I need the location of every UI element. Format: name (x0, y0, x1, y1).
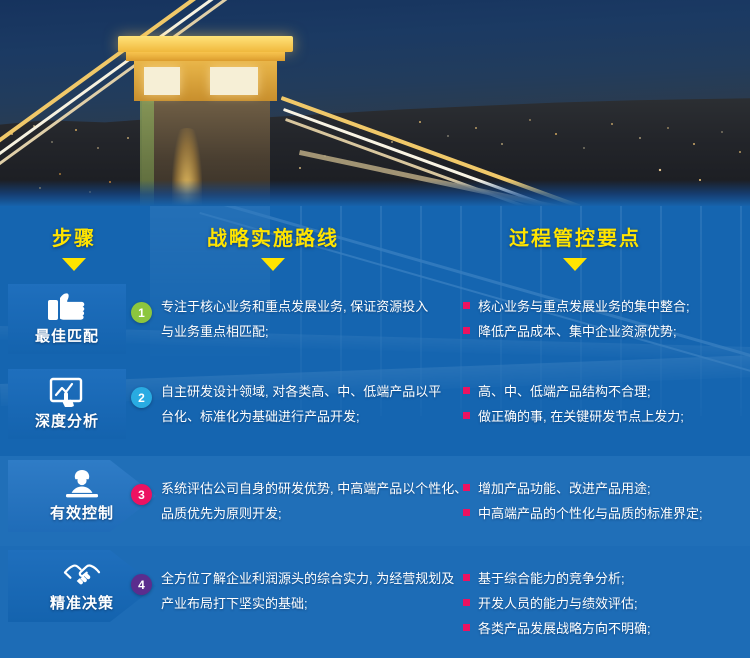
middle-line: 产业布局打下坚实的基础; (161, 591, 461, 616)
bullet-label: 增加产品功能、改进产品用途; (478, 476, 651, 501)
square-bullet-icon (463, 302, 470, 309)
step-2-right-points: 高、中、低端产品结构不合理; 做正确的事, 在关键研发节点上发力; (463, 379, 750, 429)
bullet-label: 各类产品发展战略方向不明确; (478, 616, 651, 641)
middle-line: 专注于核心业务和重点发展业务, 保证资源投入 (161, 294, 446, 319)
step-tile-2[interactable]: 深度分析 (8, 369, 126, 439)
step-3-middle-text: 系统评估公司自身的研发优势, 中高端产品以个性化、 品质优先为原则开发; (161, 476, 461, 526)
step-4-right-points: 基于综合能力的竞争分析; 开发人员的能力与绩效评估; 各类产品发展战略方向不明确… (463, 566, 750, 641)
step-badge-2: 2 (131, 387, 152, 408)
square-bullet-icon (463, 599, 470, 606)
triangle-down-icon (261, 258, 285, 271)
header-strategy-route: 战略实施路线 (148, 222, 398, 271)
bullet-item: 增加产品功能、改进产品用途; (463, 476, 750, 501)
triangle-down-icon (62, 258, 86, 271)
column-headers: 步骤 战略实施路线 过程管控要点 (0, 206, 750, 278)
infographic-page: 步骤 战略实施路线 过程管控要点 最佳匹配 1 专注于核心业务和重点发展业务 (0, 0, 750, 658)
tower-cornice-lower (126, 52, 285, 61)
middle-line: 自主研发设计领域, 对各类高、中、低端产品以平 (161, 379, 446, 404)
step-1-right-points: 核心业务与重点发展业务的集中整合; 降低产品成本、集中企业资源优势; (463, 294, 750, 344)
square-bullet-icon (463, 624, 470, 631)
bullet-label: 中高端产品的个性化与品质的标准界定; (478, 501, 703, 526)
square-bullet-icon (463, 387, 470, 394)
bullet-label: 开发人员的能力与绩效评估; (478, 591, 638, 616)
chart-screen-touch-icon (47, 377, 87, 407)
step-3-right-points: 增加产品功能、改进产品用途; 中高端产品的个性化与品质的标准界定; (463, 476, 750, 526)
row-deep-analysis: 深度分析 2 自主研发设计领域, 对各类高、中、低端产品以平 台化、标准化为基础… (0, 363, 750, 448)
square-bullet-icon (463, 412, 470, 419)
step-tile-1-label: 最佳匹配 (35, 325, 99, 346)
hero-photo-bridge-night (0, 0, 750, 206)
header-process-control-label: 过程管控要点 (440, 222, 710, 251)
middle-line: 台化、标准化为基础进行产品开发; (161, 404, 446, 429)
bullet-label: 高、中、低端产品结构不合理; (478, 379, 651, 404)
row-effective-control: 有效控制 3 系统评估公司自身的研发优势, 中高端产品以个性化、 品质优先为原则… (0, 456, 750, 546)
bullet-item: 核心业务与重点发展业务的集中整合; (463, 294, 750, 319)
step-badge-4: 4 (131, 574, 152, 595)
triangle-down-icon (563, 258, 587, 271)
step-badge-1: 1 (131, 302, 152, 323)
middle-line: 品质优先为原则开发; (161, 501, 461, 526)
row-precise-decision: 精准决策 4 全方位了解企业利润源头的综合实力, 为经营规划及 产业布局打下坚实… (0, 546, 750, 658)
middle-line: 系统评估公司自身的研发优势, 中高端产品以个性化、 (161, 476, 461, 501)
handshake-icon (62, 559, 102, 589)
thumbs-up-icon (47, 292, 87, 322)
row-best-match: 最佳匹配 1 专注于核心业务和重点发展业务, 保证资源投入 与业务重点相匹配; … (0, 278, 750, 363)
square-bullet-icon (463, 509, 470, 516)
bullet-item: 开发人员的能力与绩效评估; (463, 591, 750, 616)
bullet-item: 基于综合能力的竞争分析; (463, 566, 750, 591)
bullet-item: 中高端产品的个性化与品质的标准界定; (463, 501, 750, 526)
header-strategy-route-label: 战略实施路线 (148, 222, 398, 251)
header-steps: 步骤 (14, 222, 134, 271)
bullet-label: 降低产品成本、集中企业资源优势; (478, 319, 677, 344)
bullet-item: 各类产品发展战略方向不明确; (463, 616, 750, 641)
square-bullet-icon (463, 484, 470, 491)
header-steps-label: 步骤 (14, 222, 134, 251)
step-tile-4-label: 精准决策 (50, 592, 114, 613)
square-bullet-icon (463, 327, 470, 334)
step-badge-3: 3 (131, 484, 152, 505)
step-tile-1[interactable]: 最佳匹配 (8, 284, 126, 354)
bullet-item: 降低产品成本、集中企业资源优势; (463, 319, 750, 344)
bullet-label: 核心业务与重点发展业务的集中整合; (478, 294, 690, 319)
middle-line: 全方位了解企业利润源头的综合实力, 为经营规划及 (161, 566, 461, 591)
step-tile-3-label: 有效控制 (50, 502, 114, 523)
step-1-middle-text: 专注于核心业务和重点发展业务, 保证资源投入 与业务重点相匹配; (161, 294, 446, 344)
bullet-label: 做正确的事, 在关键研发节点上发力; (478, 404, 684, 429)
tower-cornice-top (118, 36, 293, 52)
rows-container: 最佳匹配 1 专注于核心业务和重点发展业务, 保证资源投入 与业务重点相匹配; … (0, 278, 750, 658)
person-desk-icon (62, 469, 102, 499)
step-2-middle-text: 自主研发设计领域, 对各类高、中、低端产品以平 台化、标准化为基础进行产品开发; (161, 379, 446, 429)
bullet-item: 做正确的事, 在关键研发节点上发力; (463, 404, 750, 429)
tower-window-left (144, 67, 180, 95)
bullet-item: 高、中、低端产品结构不合理; (463, 379, 750, 404)
bullet-label: 基于综合能力的竞争分析; (478, 566, 625, 591)
hero-bottom-fade (0, 180, 750, 206)
header-process-control: 过程管控要点 (440, 222, 710, 271)
step-4-middle-text: 全方位了解企业利润源头的综合实力, 为经营规划及 产业布局打下坚实的基础; (161, 566, 461, 616)
middle-line: 与业务重点相匹配; (161, 319, 446, 344)
square-bullet-icon (463, 574, 470, 581)
tower-window-right (210, 67, 258, 95)
step-tile-2-label: 深度分析 (35, 410, 99, 431)
